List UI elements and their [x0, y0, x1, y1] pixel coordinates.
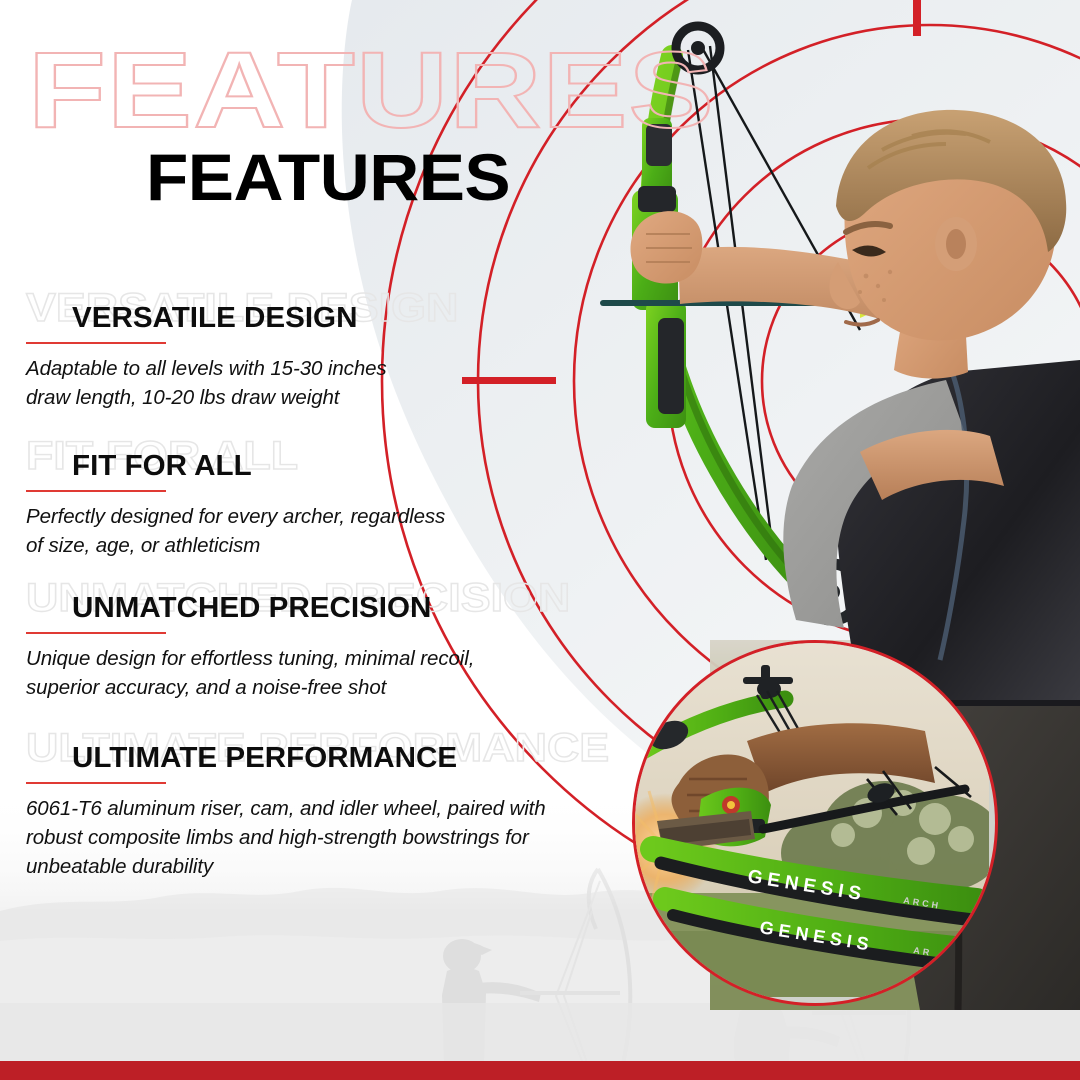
feature-description: Adaptable to all levels with 15-30 inche… [26, 354, 626, 412]
feature-underline-rule [26, 342, 166, 344]
feature-heading: UNMATCHED PRECISION [72, 594, 431, 623]
product-detail-inset: GENESIS ARCH GENESIS AR [632, 640, 998, 1006]
ghost-title-outline: FEATURES [28, 36, 715, 144]
feature-description-line: unbeatable durability [26, 852, 626, 881]
feature-description: Unique design for effortless tuning, min… [26, 644, 626, 702]
feature-heading: FIT FOR ALL [72, 452, 252, 481]
feature-heading: ULTIMATE PERFORMANCE [72, 744, 457, 773]
feature-description-line: draw length, 10-20 lbs draw weight [26, 383, 626, 412]
feature-underline-rule [26, 490, 166, 492]
page-header: FEATURES FEATURES [0, 36, 720, 226]
feature-description: Perfectly designed for every archer, reg… [26, 502, 626, 560]
feature-description-line: 6061-T6 aluminum riser, cam, and idler w… [26, 794, 626, 823]
feature-description-line: Unique design for effortless tuning, min… [26, 644, 626, 673]
feature-underline-rule [26, 782, 166, 784]
feature-underline-rule [26, 632, 166, 634]
feature-description-line: Perfectly designed for every archer, reg… [26, 502, 626, 531]
feature-description: 6061-T6 aluminum riser, cam, and idler w… [26, 794, 626, 881]
feature-heading: VERSATILE DESIGN [72, 304, 357, 333]
page-title: FEATURES [146, 144, 510, 210]
feature-description-line: of size, age, or athleticism [26, 531, 626, 560]
feature-description-line: robust composite limbs and high-strength… [26, 823, 626, 852]
target-tick-top [913, 0, 921, 36]
feature-description-line: superior accuracy, and a noise-free shot [26, 673, 626, 702]
feature-description-line: Adaptable to all levels with 15-30 inche… [26, 354, 626, 383]
infographic-canvas: GENESIS ARCH GENESIS AR FEATURES FEATURE… [0, 0, 1080, 1080]
bottom-accent-bar [0, 1061, 1080, 1080]
